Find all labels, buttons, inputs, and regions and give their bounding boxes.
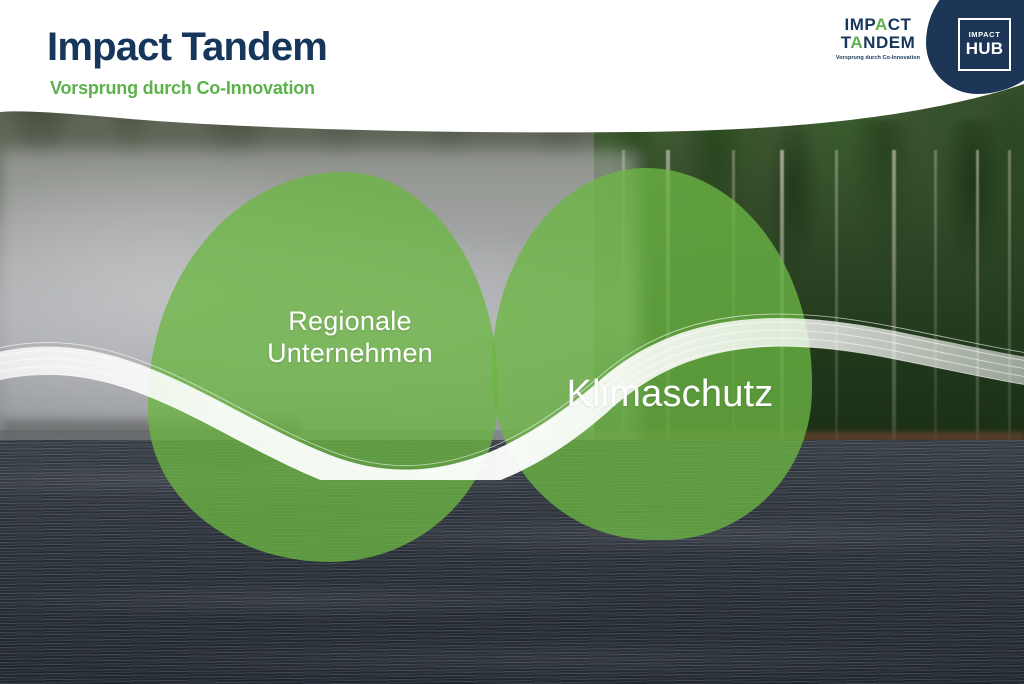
impact-tandem-logo-line-1: IMPACT: [824, 16, 932, 33]
impact-tandem-logo[interactable]: IMPACT TANDEM Vorsprung durch Co-Innovat…: [824, 16, 932, 61]
logo-line2-post: NDEM: [863, 33, 915, 52]
page-title: Impact Tandem: [47, 25, 327, 70]
logo-line2-accent: A: [850, 33, 863, 52]
page-subtitle: Vorsprung durch Co-Innovation: [50, 78, 315, 99]
blob-label-line-1: Regionale: [222, 306, 478, 338]
white-brush-stroke-wave: [0, 250, 1024, 480]
blob-label-line-2: Unternehmen: [222, 338, 478, 370]
logo-line1-pre: IMP: [845, 15, 875, 34]
blob-label-klimaschutz: Klimaschutz: [500, 372, 840, 417]
impact-tandem-logo-tagline: Vorsprung durch Co-Innovation: [824, 55, 932, 61]
impact-hub-logo-line-2: HUB: [966, 40, 1003, 58]
blob-label-regionale-unternehmen: Regionale Unternehmen: [222, 306, 478, 370]
logo-line2-pre: T: [841, 33, 851, 52]
header: Impact Tandem Vorsprung durch Co-Innovat…: [0, 0, 1024, 142]
impact-tandem-logo-line-2: TANDEM: [824, 34, 932, 51]
hero-banner: Regionale Unternehmen Klimaschutz Impact…: [0, 0, 1024, 684]
impact-hub-logo[interactable]: IMPACT HUB: [958, 18, 1011, 71]
logo-line1-accent: A: [875, 15, 888, 34]
logo-line1-post: CT: [888, 15, 912, 34]
impact-hub-logo-line-1: IMPACT: [969, 31, 1001, 39]
